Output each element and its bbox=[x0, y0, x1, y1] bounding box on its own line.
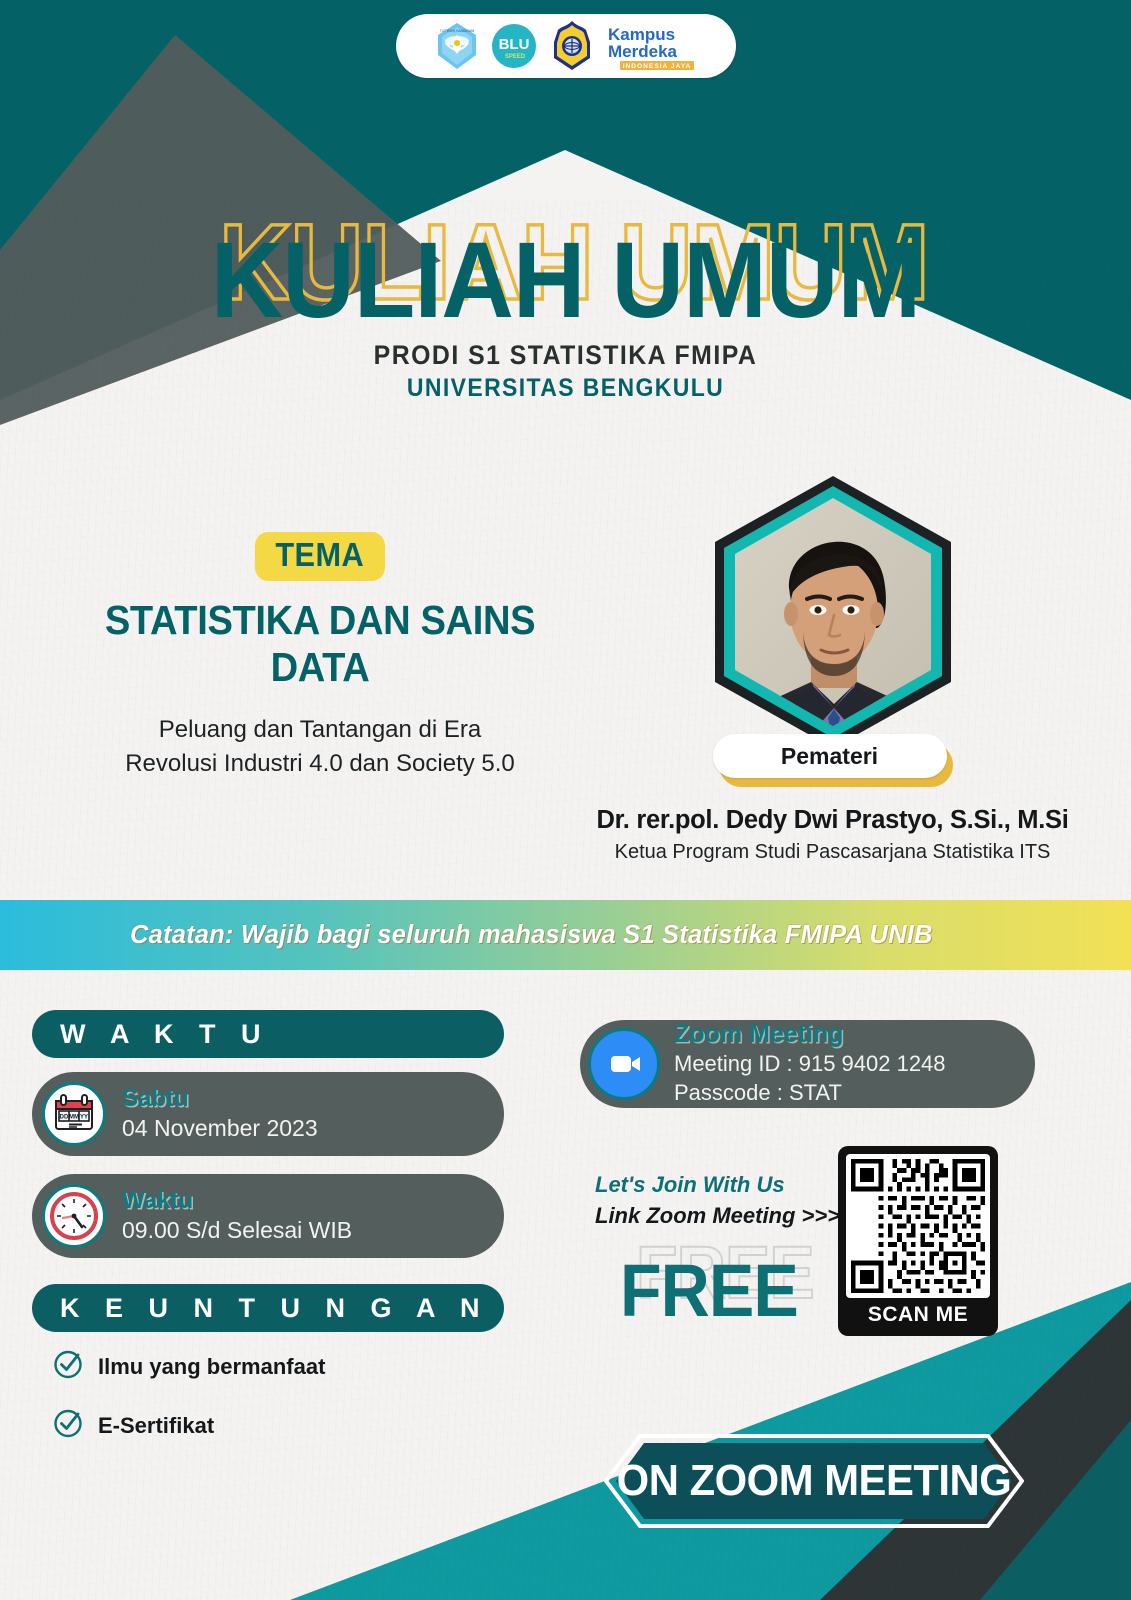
join-cta-line-2: Link Zoom Meeting >>> bbox=[595, 1203, 840, 1229]
zoom-camera-icon bbox=[588, 1028, 660, 1100]
list-item: E-Sertifikat bbox=[52, 1407, 512, 1444]
free-label-text: FREE bbox=[620, 1248, 798, 1333]
theme-block: TEMA STATISTIKA DAN SAINS DATA Peluang d… bbox=[40, 532, 600, 781]
join-cta-line-1: Let's Join With Us bbox=[595, 1172, 840, 1198]
svg-text:DD: DD bbox=[60, 1115, 69, 1121]
svg-text:Merdeka: Merdeka bbox=[608, 42, 678, 61]
theme-description-line-2: Revolusi Industri 4.0 dan Society 5.0 bbox=[40, 747, 600, 781]
zoom-meeting-card: Zoom Meeting Meeting ID : 915 9402 1248 … bbox=[580, 1020, 1035, 1108]
svg-text:TUT WURI HANDAYANI: TUT WURI HANDAYANI bbox=[439, 29, 474, 33]
info-card-date-value: 04 November 2023 bbox=[122, 1116, 318, 1142]
info-card-time-value: 09.00 S/d Selesai WIB bbox=[122, 1218, 352, 1244]
zoom-passcode: Passcode : STAT bbox=[674, 1080, 946, 1106]
qr-code[interactable] bbox=[846, 1154, 990, 1298]
join-cta: Let's Join With Us Link Zoom Meeting >>> bbox=[595, 1172, 840, 1229]
kampus-merdeka-logo: Kampus Merdeka INDONESIA JAYA bbox=[606, 20, 698, 72]
check-circle-icon bbox=[52, 1407, 84, 1444]
footer-badge: ON ZOOM MEETING bbox=[604, 1434, 1024, 1528]
svg-text:YY: YY bbox=[80, 1115, 88, 1121]
note-text: Catatan: Wajib bagi seluruh mahasiswa S1… bbox=[130, 921, 933, 950]
speaker-portrait bbox=[699, 468, 967, 756]
footer-badge-label: ON ZOOM MEETING bbox=[615, 1434, 1014, 1528]
benefit-label: Ilmu yang bermanfaat bbox=[98, 1354, 325, 1380]
pemateri-badge: Pemateri bbox=[713, 734, 953, 780]
clock-icon bbox=[42, 1184, 106, 1248]
logo-bar: TUT WURI HANDAYANI BLU SPEED bbox=[396, 14, 736, 78]
tema-badge: TEMA bbox=[255, 532, 385, 581]
info-card-date-texts: Sabtu 04 November 2023 bbox=[122, 1086, 318, 1142]
benefits-list: Ilmu yang bermanfaat E-Sertifikat bbox=[52, 1348, 512, 1466]
theme-description-line-1: Peluang dan Tantangan di Era bbox=[40, 713, 600, 747]
qr-caption: SCAN ME bbox=[868, 1303, 968, 1327]
calendar-icon: DD MM YY bbox=[42, 1082, 106, 1146]
speaker-name: Dr. rer.pol. Dedy Dwi Prastyo, S.Si., M.… bbox=[560, 806, 1105, 835]
zoom-meeting-id: Meeting ID : 915 9402 1248 bbox=[674, 1051, 946, 1077]
info-card-date-label: Sabtu bbox=[122, 1086, 318, 1113]
headline-subtitle-program: PRODI S1 STATISTIKA FMIPA bbox=[45, 340, 1086, 371]
poster-canvas: TUT WURI HANDAYANI BLU SPEED bbox=[0, 0, 1131, 1600]
svg-text:MM: MM bbox=[69, 1115, 79, 1121]
page-title-text: KULIAH UMUM bbox=[211, 219, 920, 340]
section-header-waktu: W A K T U bbox=[32, 1010, 504, 1058]
info-card-time: Waktu 09.00 S/d Selesai WIB bbox=[32, 1174, 504, 1258]
tut-wuri-handayani-logo: TUT WURI HANDAYANI bbox=[434, 21, 480, 71]
speaker-block: Pemateri Dr. rer.pol. Dedy Dwi Prastyo, … bbox=[560, 468, 1105, 864]
blu-speed-logo: BLU SPEED bbox=[490, 22, 538, 70]
speaker-role: Ketua Program Studi Pascasarjana Statist… bbox=[560, 841, 1105, 864]
speaker-photo-frame bbox=[699, 468, 967, 756]
info-card-time-label: Waktu bbox=[122, 1188, 352, 1215]
theme-description: Peluang dan Tantangan di Era Revolusi In… bbox=[40, 713, 600, 781]
section-header-keuntungan: K E U N T U N G A N bbox=[32, 1284, 504, 1332]
theme-title: STATISTIKA DAN SAINS DATA bbox=[60, 597, 581, 691]
page-title: KULIAH UMUM KULIAH UMUM bbox=[211, 228, 920, 332]
info-card-date: DD MM YY Sabtu 04 November 2023 bbox=[32, 1072, 504, 1156]
qr-code-box[interactable]: SCAN ME bbox=[838, 1146, 998, 1336]
svg-text:INDONESIA JAYA: INDONESIA JAYA bbox=[622, 63, 691, 70]
note-banner: Catatan: Wajib bagi seluruh mahasiswa S1… bbox=[0, 900, 1131, 970]
list-item: Ilmu yang bermanfaat bbox=[52, 1348, 512, 1385]
headline-subtitle-university: UNIVERSITAS BENGKULU bbox=[45, 374, 1086, 403]
benefit-label: E-Sertifikat bbox=[98, 1413, 214, 1439]
svg-text:SPEED: SPEED bbox=[504, 54, 525, 60]
zoom-meeting-title: Zoom Meeting bbox=[674, 1021, 946, 1047]
pemateri-badge-label: Pemateri bbox=[713, 734, 947, 778]
zoom-meeting-texts: Zoom Meeting Meeting ID : 915 9402 1248 … bbox=[674, 1021, 946, 1106]
universitas-bengkulu-logo bbox=[548, 20, 596, 72]
info-card-time-texts: Waktu 09.00 S/d Selesai WIB bbox=[122, 1188, 352, 1244]
free-label: FREE FREE bbox=[620, 1234, 840, 1324]
svg-text:BLU: BLU bbox=[498, 36, 529, 53]
headline-block: KULIAH UMUM KULIAH UMUM PRODI S1 STATIST… bbox=[0, 228, 1131, 403]
check-circle-icon bbox=[52, 1348, 84, 1385]
